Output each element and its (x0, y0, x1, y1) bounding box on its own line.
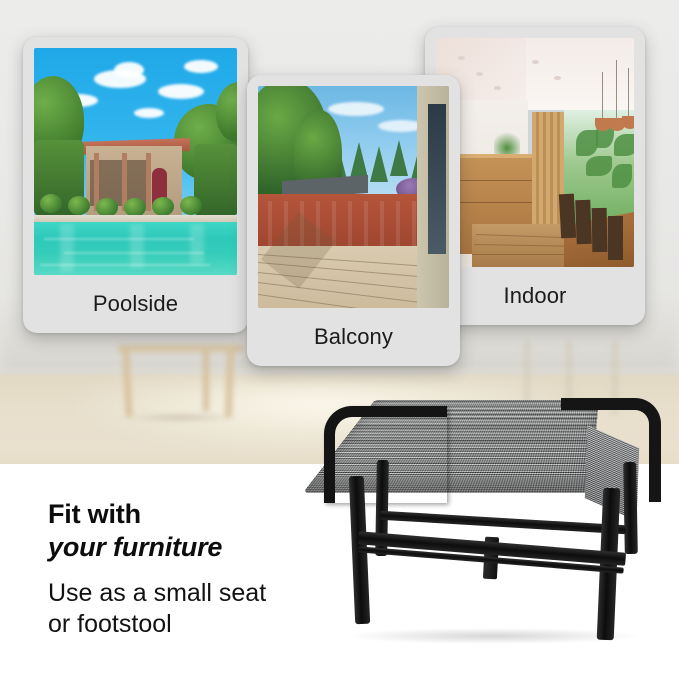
balcony-photo (258, 86, 449, 308)
copy-block: Fit with your furniture Use as a small s… (48, 498, 348, 640)
leg-back-right (623, 462, 638, 554)
rail-back (380, 511, 626, 535)
background-console-table (118, 345, 243, 417)
card-caption-balcony: Balcony (247, 308, 460, 366)
subtext-line-2: or footstool (48, 609, 348, 640)
product-shadow (348, 628, 638, 644)
marketing-image: Poolside (0, 0, 679, 673)
subtext: Use as a small seat or footstool (48, 578, 348, 640)
headline-line-1: Fit with (48, 498, 348, 531)
headline-line-2: your furniture (48, 531, 348, 564)
scene-card-balcony[interactable]: Balcony (247, 75, 460, 366)
subtext-line-1: Use as a small seat (48, 578, 348, 609)
card-caption-poolside: Poolside (23, 275, 248, 333)
frame-right-arm (561, 398, 661, 502)
indoor-photo (436, 38, 634, 267)
poolside-photo (34, 48, 237, 275)
product-footstool (318, 392, 663, 660)
scene-card-poolside[interactable]: Poolside (23, 37, 248, 333)
